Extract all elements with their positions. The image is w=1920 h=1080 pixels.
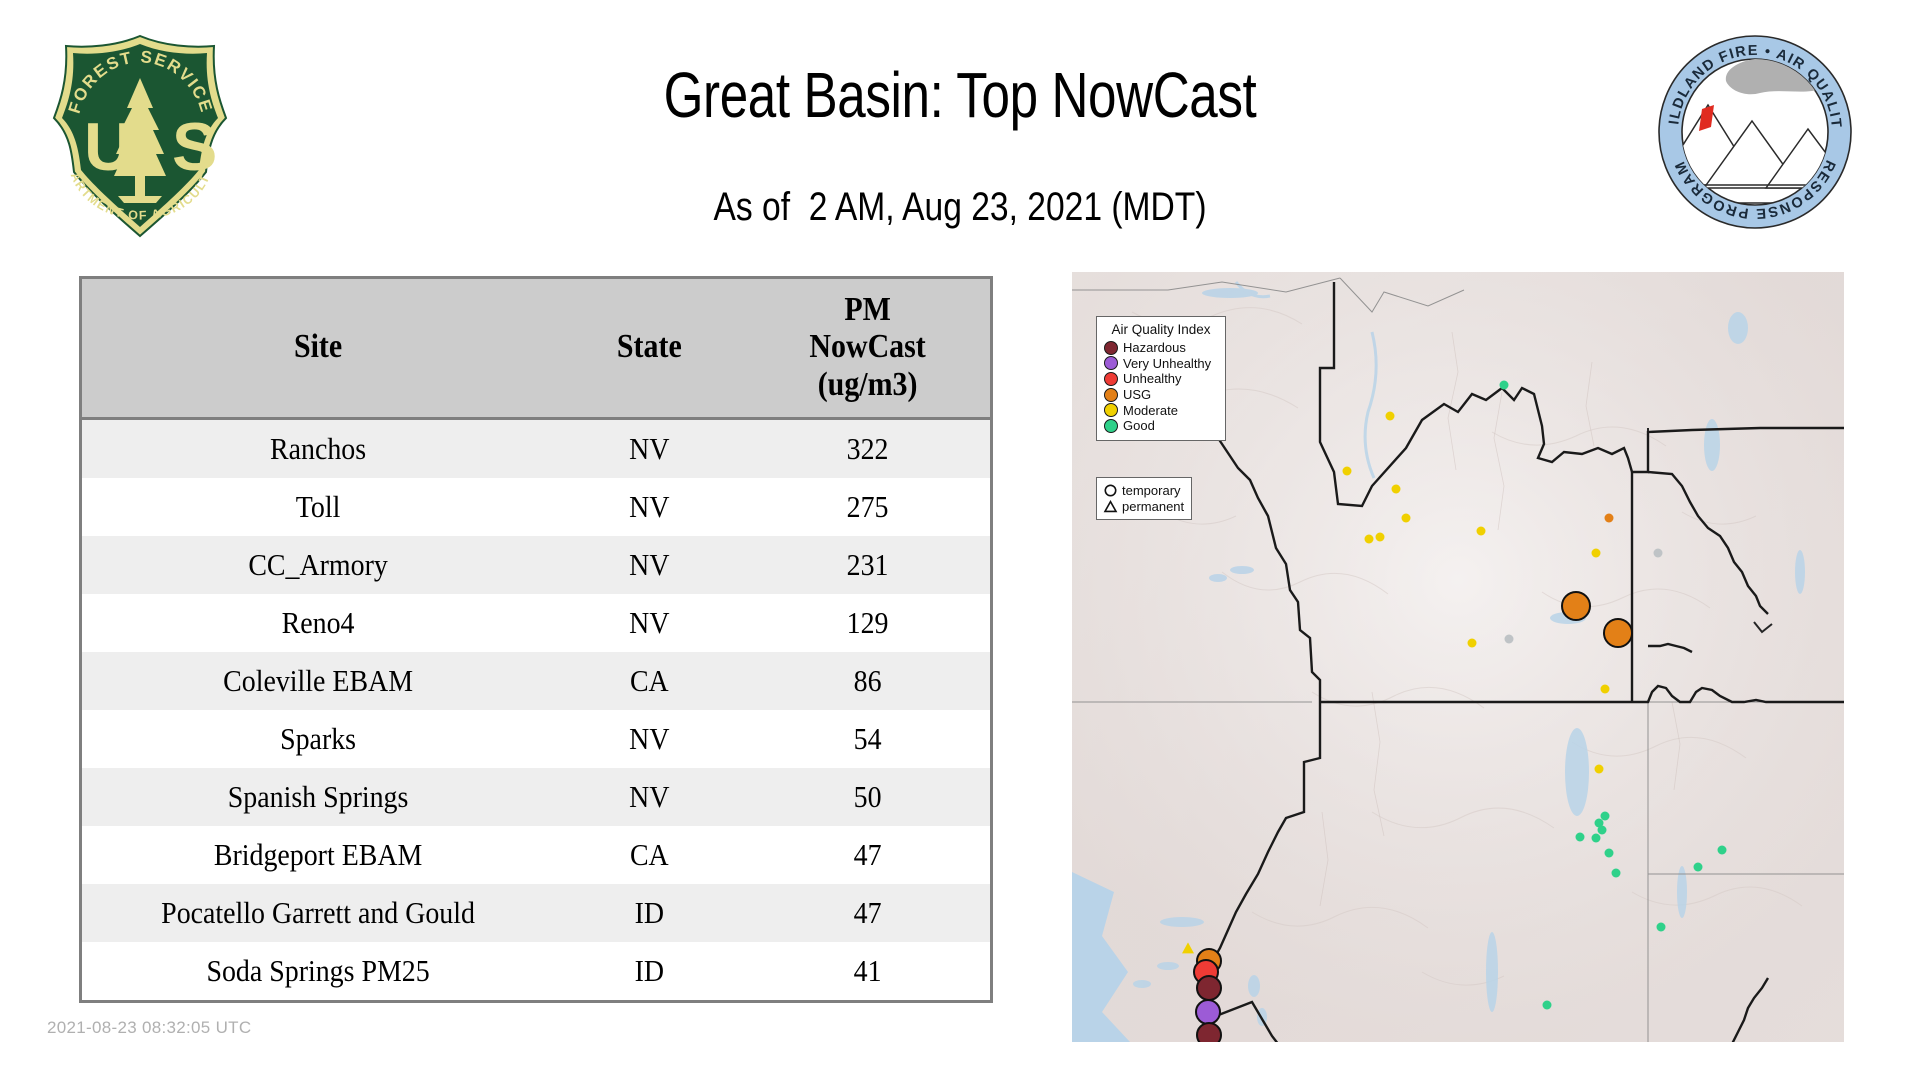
monitor-marker[interactable] bbox=[1543, 1001, 1552, 1010]
state-cell: NV bbox=[564, 768, 736, 826]
site-cell: Ranchos bbox=[106, 419, 531, 479]
aqi-legend-row: Unhealthy bbox=[1104, 371, 1218, 387]
monitor-marker[interactable] bbox=[1402, 514, 1411, 523]
page-subtitle: As of 2 AM, Aug 23, 2021 (MDT) bbox=[154, 185, 1767, 230]
monitor-marker[interactable] bbox=[1694, 863, 1703, 872]
legend-label-permanent: permanent bbox=[1122, 500, 1184, 513]
pm-cell: 54 bbox=[757, 710, 978, 768]
state-cell: CA bbox=[564, 652, 736, 710]
site-cell: Toll bbox=[106, 478, 531, 536]
monitor-marker[interactable] bbox=[1605, 514, 1614, 523]
monitor-marker[interactable] bbox=[1718, 846, 1727, 855]
legend-label-temporary: temporary bbox=[1122, 484, 1181, 497]
aqi-legend-row: Very Unhealthy bbox=[1104, 356, 1218, 372]
state-cell: ID bbox=[564, 942, 736, 1000]
aqi-legend-row: Hazardous bbox=[1104, 340, 1218, 356]
aqi-legend-row: Good bbox=[1104, 418, 1218, 434]
table-row: CC_ArmoryNV231 bbox=[82, 536, 990, 594]
aqi-legend-swatch bbox=[1104, 403, 1118, 417]
table-row: Coleville EBAMCA86 bbox=[82, 652, 990, 710]
site-cell: Pocatello Garrett and Gould bbox=[106, 884, 531, 942]
monitor-marker[interactable] bbox=[1392, 485, 1401, 494]
legend-row-permanent: permanent bbox=[1103, 498, 1185, 514]
site-cell: Spanish Springs bbox=[106, 768, 531, 826]
monitor-marker[interactable] bbox=[1592, 549, 1601, 558]
monitor-marker[interactable] bbox=[1657, 923, 1666, 932]
monitor-marker[interactable] bbox=[1500, 381, 1509, 390]
monitor-marker[interactable] bbox=[1343, 467, 1352, 476]
monitor-marker[interactable] bbox=[1561, 591, 1591, 621]
pm-cell: 41 bbox=[757, 942, 978, 1000]
monitor-marker[interactable] bbox=[1595, 765, 1604, 774]
state-cell: CA bbox=[564, 826, 736, 884]
site-cell: Reno4 bbox=[106, 594, 531, 652]
aqi-legend-title: Air Quality Index bbox=[1104, 322, 1218, 337]
monitor-marker[interactable] bbox=[1612, 869, 1621, 878]
nowcast-table: Site State PM NowCast (ug/m3) RanchosNV3… bbox=[79, 276, 993, 1003]
monitor-marker[interactable] bbox=[1376, 533, 1385, 542]
aqi-legend-row: Moderate bbox=[1104, 402, 1218, 418]
aqi-legend-label: Moderate bbox=[1123, 404, 1178, 417]
monitor-type-legend: temporary permanent bbox=[1096, 477, 1192, 520]
circle-outline-icon bbox=[1103, 483, 1118, 498]
pm-cell: 322 bbox=[757, 419, 978, 479]
pm-header-line-2: NowCast bbox=[763, 328, 972, 365]
aqi-legend-label: USG bbox=[1123, 388, 1151, 401]
table-row: Spanish SpringsNV50 bbox=[82, 768, 990, 826]
table-row: Bridgeport EBAMCA47 bbox=[82, 826, 990, 884]
aqi-legend-row: USG bbox=[1104, 387, 1218, 403]
triangle-outline-icon bbox=[1103, 499, 1118, 514]
table-header-row: Site State PM NowCast (ug/m3) bbox=[82, 279, 990, 419]
legend-row-temporary: temporary bbox=[1103, 482, 1185, 498]
pm-cell: 86 bbox=[757, 652, 978, 710]
state-cell: NV bbox=[564, 536, 736, 594]
monitor-marker[interactable] bbox=[1592, 834, 1601, 843]
aqi-legend-label: Hazardous bbox=[1123, 341, 1186, 354]
aqi-legend-label: Unhealthy bbox=[1123, 372, 1182, 385]
page-title: Great Basin: Top NowCast bbox=[192, 58, 1728, 132]
monitor-marker[interactable] bbox=[1601, 685, 1610, 694]
monitor-marker[interactable] bbox=[1605, 849, 1614, 858]
aqi-legend: Air Quality Index HazardousVery Unhealth… bbox=[1096, 316, 1226, 441]
aqi-legend-swatch bbox=[1104, 388, 1118, 402]
site-cell: Sparks bbox=[106, 710, 531, 768]
monitor-marker[interactable] bbox=[1196, 1022, 1222, 1042]
table-row: RanchosNV322 bbox=[82, 419, 990, 479]
pm-header-line-1: PM bbox=[763, 291, 972, 328]
state-cell: NV bbox=[564, 710, 736, 768]
pm-cell: 50 bbox=[757, 768, 978, 826]
table-row: Soda Springs PM25ID41 bbox=[82, 942, 990, 1000]
pm-cell: 47 bbox=[757, 884, 978, 942]
pm-header-line-3: (ug/m3) bbox=[763, 366, 972, 403]
monitor-marker[interactable] bbox=[1386, 412, 1395, 421]
monitor-marker[interactable] bbox=[1603, 618, 1633, 648]
state-cell: NV bbox=[564, 478, 736, 536]
aqi-legend-swatch bbox=[1104, 341, 1118, 355]
aqi-legend-swatch bbox=[1104, 356, 1118, 370]
aqi-legend-label: Very Unhealthy bbox=[1123, 357, 1211, 370]
monitor-marker[interactable] bbox=[1576, 833, 1585, 842]
state-cell: NV bbox=[564, 419, 736, 479]
site-cell: CC_Armory bbox=[106, 536, 531, 594]
site-cell: Soda Springs PM25 bbox=[106, 942, 531, 1000]
aqi-legend-label: Good bbox=[1123, 419, 1155, 432]
pm-cell: 47 bbox=[757, 826, 978, 884]
table-row: SparksNV54 bbox=[82, 710, 990, 768]
monitor-marker[interactable] bbox=[1654, 549, 1663, 558]
table-row: Pocatello Garrett and GouldID47 bbox=[82, 884, 990, 942]
monitor-marker[interactable] bbox=[1601, 812, 1610, 821]
monitor-marker[interactable] bbox=[1468, 639, 1477, 648]
pm-cell: 129 bbox=[757, 594, 978, 652]
monitor-marker[interactable] bbox=[1365, 535, 1374, 544]
monitor-marker[interactable] bbox=[1598, 826, 1607, 835]
air-quality-map[interactable]: Air Quality Index HazardousVery Unhealth… bbox=[1072, 272, 1844, 1042]
monitor-marker[interactable] bbox=[1196, 975, 1222, 1001]
state-cell: ID bbox=[564, 884, 736, 942]
column-header-pm-nowcast: PM NowCast (ug/m3) bbox=[760, 279, 976, 419]
pm-cell: 275 bbox=[757, 478, 978, 536]
column-header-site: Site bbox=[110, 279, 525, 419]
table-row: TollNV275 bbox=[82, 478, 990, 536]
site-cell: Coleville EBAM bbox=[106, 652, 531, 710]
footer-timestamp: 2021-08-23 08:32:05 UTC bbox=[47, 1018, 251, 1038]
aqi-legend-swatch bbox=[1104, 419, 1118, 433]
column-header-state: State bbox=[566, 279, 734, 419]
site-cell: Bridgeport EBAM bbox=[106, 826, 531, 884]
monitor-marker-permanent[interactable] bbox=[1182, 942, 1194, 953]
monitor-marker[interactable] bbox=[1505, 635, 1514, 644]
aqi-legend-swatch bbox=[1104, 372, 1118, 386]
table-row: Reno4NV129 bbox=[82, 594, 990, 652]
monitor-marker[interactable] bbox=[1477, 527, 1486, 536]
pm-cell: 231 bbox=[757, 536, 978, 594]
state-cell: NV bbox=[564, 594, 736, 652]
